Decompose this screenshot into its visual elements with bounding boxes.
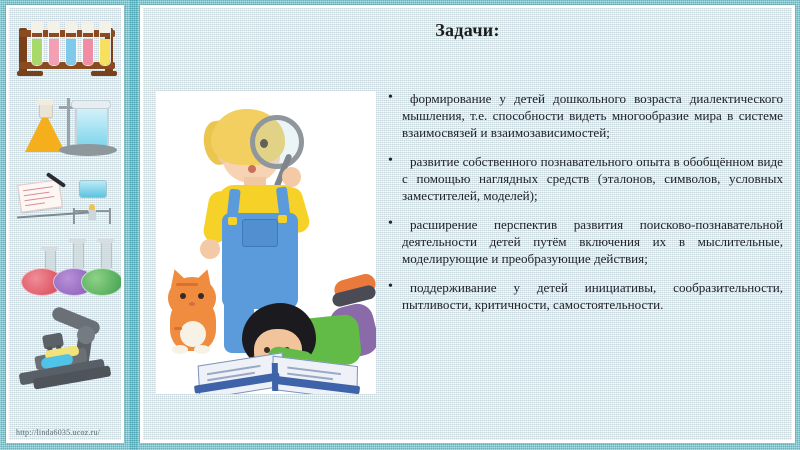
children-exploring-illustration: [156, 91, 376, 394]
boy-overall-pocket: [242, 219, 278, 247]
kitten-stripe: [174, 327, 182, 330]
test-tube-rack-icon: [17, 16, 117, 78]
kitten-belly: [180, 321, 206, 347]
source-watermark: http://linda6035.ucoz.ru/: [16, 428, 100, 437]
illustration-card: [156, 91, 376, 394]
magnifying-glass-icon: [250, 115, 304, 169]
list-item: расширение перспектив развития поисково-…: [388, 216, 783, 267]
presentation-slide: http://linda6035.ucoz.ru/ Задачи:: [0, 0, 800, 450]
microscope-icon: [15, 304, 121, 390]
slide-content-panel: Задачи:: [140, 5, 795, 443]
flask-and-beaker-icon: [19, 94, 117, 164]
list-item: развитие собственного познавательного оп…: [388, 153, 783, 204]
open-book-spine: [272, 363, 278, 391]
list-item: поддерживание у детей инициативы, сообра…: [388, 279, 783, 313]
notebook-and-burner-icon: [15, 174, 121, 230]
boy-hand-left: [200, 239, 220, 259]
kitten-eye-right: [198, 293, 204, 299]
vertical-separator-band: [129, 0, 137, 450]
round-flasks-icon: [15, 236, 123, 298]
boy-mouth: [248, 165, 256, 173]
list-item: формирование у детей дошкольного возраст…: [388, 90, 783, 141]
kitten-eye-left: [180, 293, 186, 299]
science-equipment-strip: http://linda6035.ucoz.ru/: [6, 5, 124, 443]
boy-overall-buckle-left: [228, 217, 237, 225]
objectives-list: формирование у детей дошкольного возраст…: [388, 90, 783, 325]
kitten-paw-right: [194, 345, 210, 354]
kitten-head-stripe: [176, 283, 198, 286]
kitten-nose: [189, 302, 195, 306]
boy-overall-buckle-right: [278, 215, 287, 223]
boy-hand-right: [282, 167, 301, 187]
kitten-paw-left: [172, 345, 188, 354]
page-title: Задачи:: [143, 20, 792, 41]
